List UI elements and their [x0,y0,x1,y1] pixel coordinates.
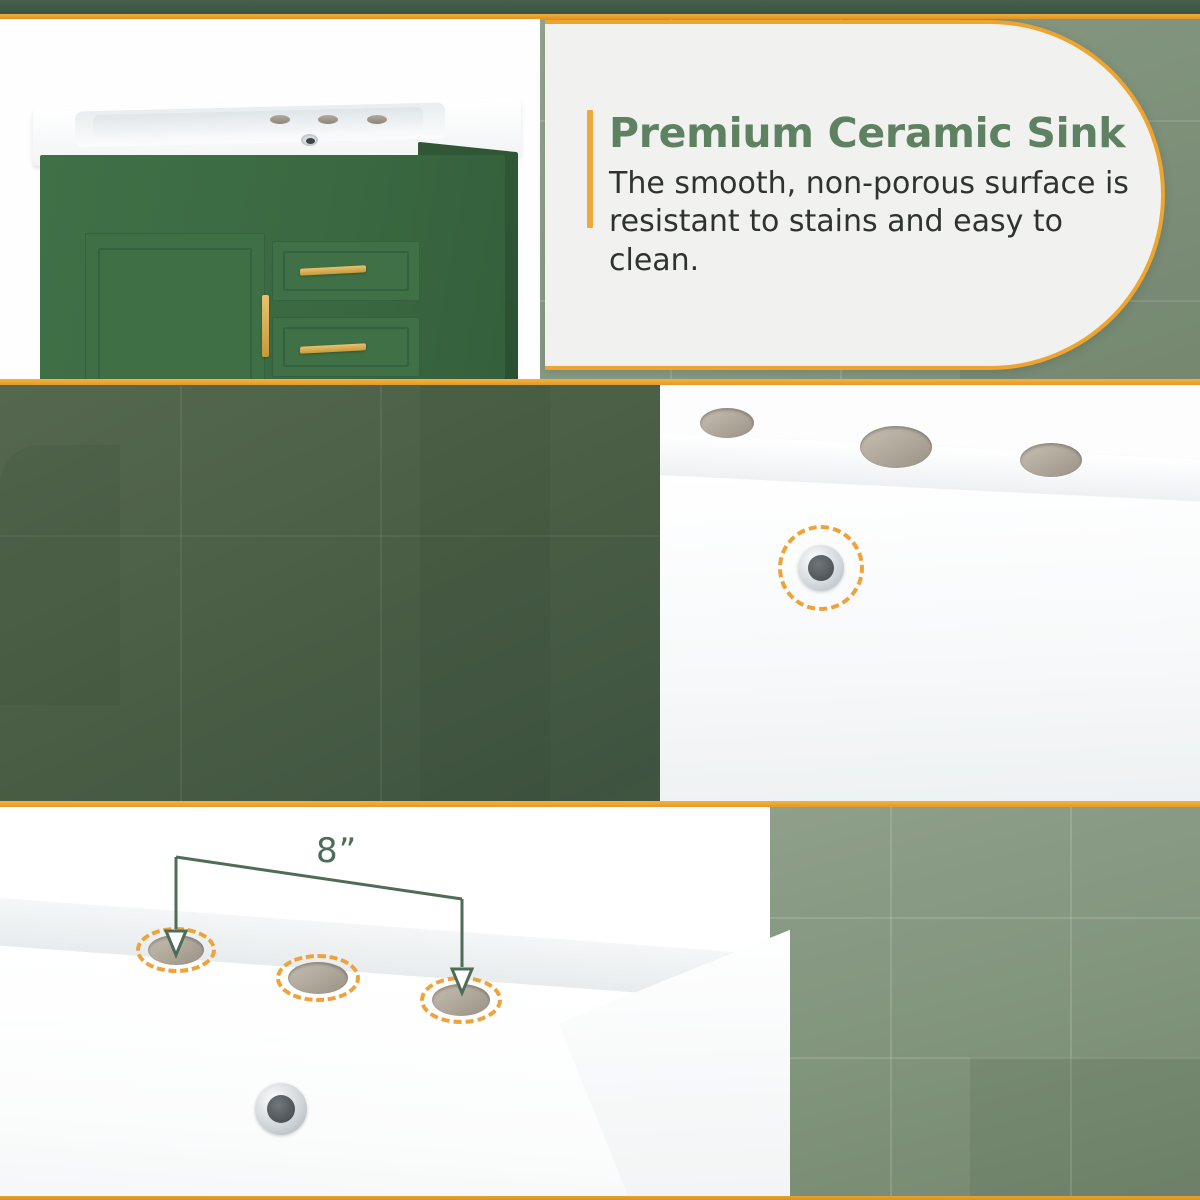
faucet-hole [270,115,290,124]
curtain-shadow [0,445,120,705]
callout-description: The smooth, non-porous surface is resist… [609,165,1161,280]
tile-seam [180,385,182,807]
top-orange-rule [0,14,1200,19]
floor-shading [970,1057,1200,1200]
callout-text: Premium Ceramic Sink The smooth, non-por… [609,110,1161,280]
section-3-tiled-wall [770,807,1200,1200]
overflow-hole-highlight-ring [778,525,864,611]
tile-seam [770,917,1200,919]
dimension-arrow-right [452,969,472,993]
callout-premium-ceramic-sink: Premium Ceramic Sink The smooth, non-por… [545,20,1165,370]
section-premium-ceramic-sink: Premium Ceramic Sink The smooth, non-por… [0,0,1200,385]
accent-bar [587,110,593,228]
door-panel-inset [98,248,252,385]
faucet-hole [367,115,387,124]
dimension-span-line [176,857,462,899]
vanity-illustration [15,95,535,385]
sink-deck-closeup [660,385,1200,807]
sink-deck-dimension-view: 8” [0,807,790,1200]
dimension-annotation [0,807,790,1200]
cabinet-body [40,155,505,385]
faucet-hole [318,115,338,124]
dimension-arrow-left [166,931,186,955]
wall-shading [420,385,550,807]
section-three-pre-drilled-hole: 8” Three Pre-drilled Hole For easy fauce… [0,807,1200,1200]
gold-handle [262,295,269,357]
callout-content: Premium Ceramic Sink The smooth, non-por… [545,110,1161,280]
product-infographic: Premium Ceramic Sink The smooth, non-por… [0,0,1200,1200]
section-divider-2 [0,801,1200,807]
callout-title: Premium Ceramic Sink [609,112,1161,155]
section-overflow-protection: Overflow Protection Equipped with an ove… [0,385,1200,807]
faucet-hole [860,426,932,468]
tile-seam [380,385,382,807]
bottom-orange-rule [0,1196,1200,1200]
cabinet-door [85,233,265,385]
section-divider-1 [0,379,1200,385]
tile-seam [890,807,892,1200]
faucet-hole [700,408,754,438]
sink-bowl [660,474,1200,807]
faucet-hole [1020,443,1082,477]
overflow-hole [301,134,318,146]
top-green-strip [0,0,1200,14]
